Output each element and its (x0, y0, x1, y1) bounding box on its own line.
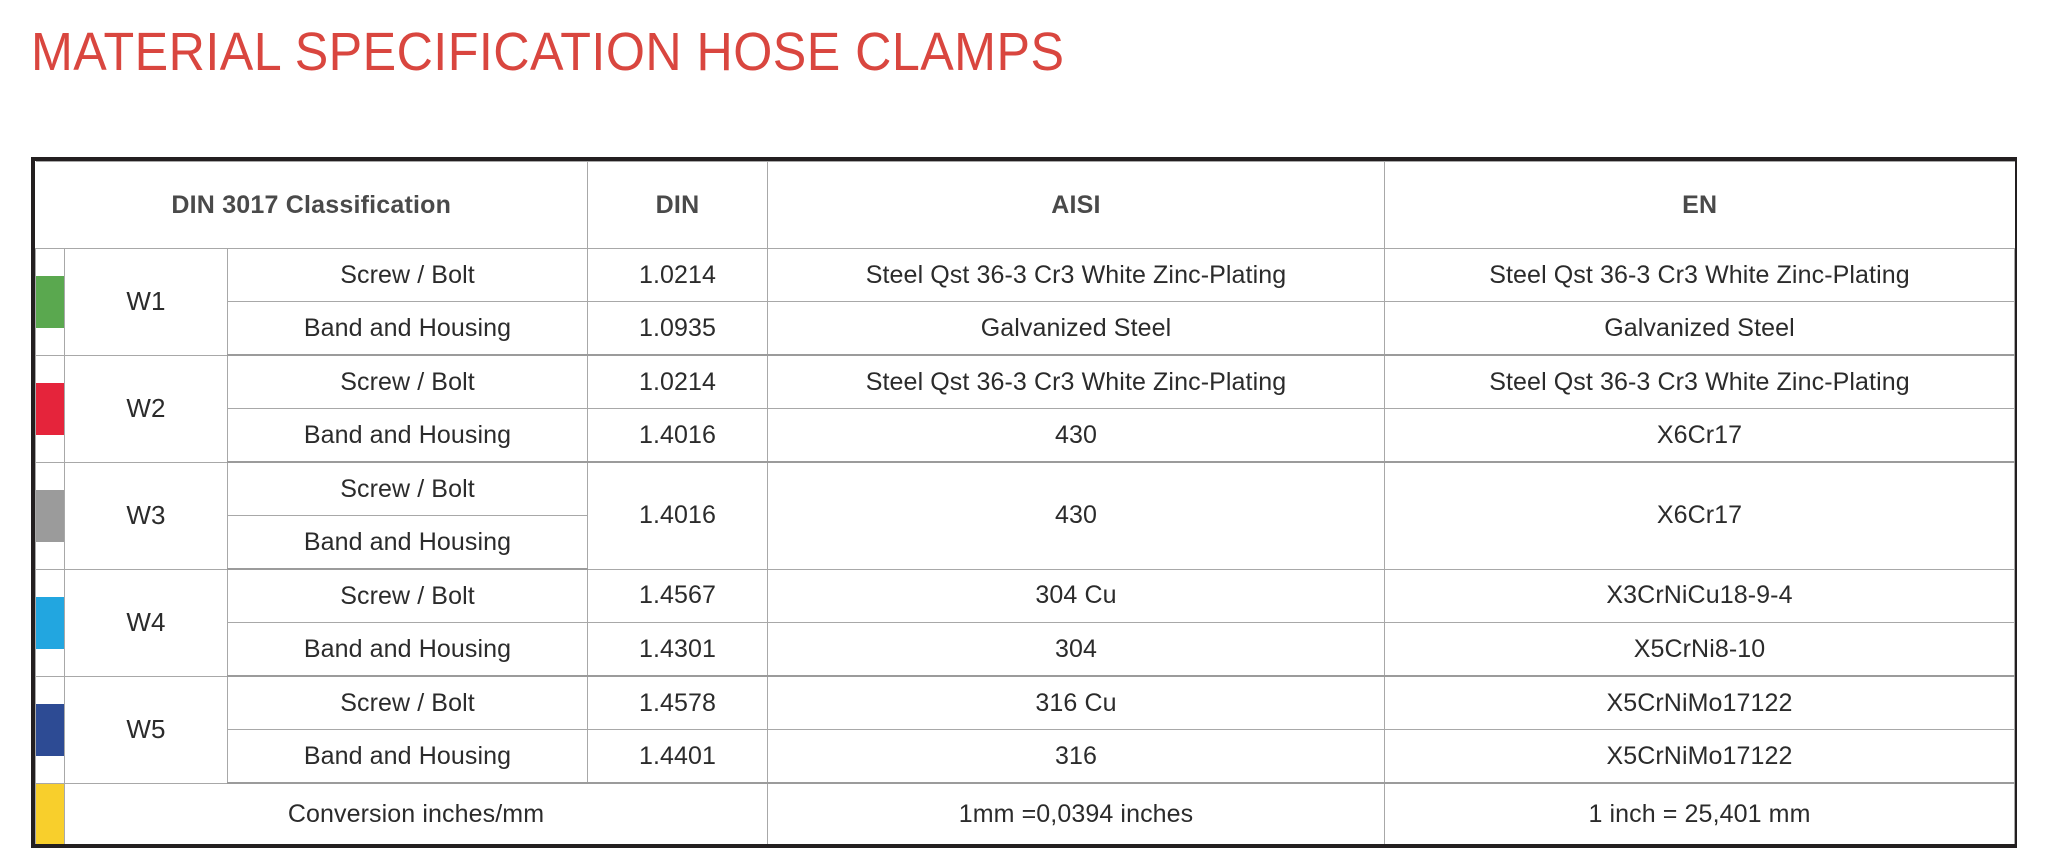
cell-en: Steel Qst 36-3 Cr3 White Zinc-Plating (1385, 249, 2015, 302)
color-swatch-w4 (36, 569, 65, 676)
cell-din: 1.0935 (588, 302, 768, 356)
swatch-fill (36, 597, 64, 649)
part-label: Screw / Bolt (228, 676, 588, 730)
page-title: MATERIAL SPECIFICATION HOSE CLAMPS (31, 22, 1064, 82)
swatch-fill (36, 704, 64, 756)
color-swatch-w2 (36, 355, 65, 462)
part-label: Screw / Bolt (228, 249, 588, 302)
cell-din: 1.4401 (588, 730, 768, 784)
color-swatch-w3 (36, 462, 65, 569)
swatch-fill (36, 490, 64, 542)
table-row: W1Screw / Bolt1.0214Steel Qst 36-3 Cr3 W… (36, 249, 2015, 302)
part-label: Band and Housing (228, 516, 588, 570)
cell-aisi: 430 (768, 462, 1385, 569)
table-row: Band and Housing1.0935Galvanized SteelGa… (36, 302, 2015, 356)
part-label: Band and Housing (228, 730, 588, 784)
part-label: Band and Housing (228, 409, 588, 463)
conversion-row: Conversion inches/mm1mm =0,0394 inches1 … (36, 783, 2015, 844)
column-header-din: DIN (588, 162, 768, 249)
table-row: Band and Housing1.4016430X6Cr17 (36, 409, 2015, 463)
cell-aisi: Galvanized Steel (768, 302, 1385, 356)
table-row: Band and Housing1.4401316X5CrNiMo17122 (36, 730, 2015, 784)
classification-code-w3: W3 (65, 462, 228, 569)
cell-din: 1.4567 (588, 569, 768, 623)
cell-en: X5CrNiMo17122 (1385, 730, 2015, 784)
swatch-fill (36, 383, 64, 435)
cell-en: X5CrNiMo17122 (1385, 676, 2015, 730)
table-header: DIN 3017 Classification DIN AISI EN (36, 162, 2015, 249)
cell-din: 1.4016 (588, 409, 768, 463)
conversion-mm-to-inches: 1mm =0,0394 inches (768, 783, 1385, 844)
classification-code-w2: W2 (65, 355, 228, 462)
cell-aisi: Steel Qst 36-3 Cr3 White Zinc-Plating (768, 249, 1385, 302)
table-row: W3Screw / Bolt1.4016430X6Cr17 (36, 462, 2015, 516)
column-header-en: EN (1385, 162, 2015, 249)
cell-en: X5CrNi8-10 (1385, 623, 2015, 677)
part-label: Band and Housing (228, 623, 588, 677)
part-label: Screw / Bolt (228, 355, 588, 409)
color-swatch-w1 (36, 249, 65, 356)
column-header-classification: DIN 3017 Classification (36, 162, 588, 249)
conversion-label: Conversion inches/mm (65, 783, 768, 844)
cell-aisi: 316 (768, 730, 1385, 784)
cell-din: 1.0214 (588, 249, 768, 302)
classification-code-w4: W4 (65, 569, 228, 676)
cell-din: 1.4016 (588, 462, 768, 569)
part-label: Band and Housing (228, 302, 588, 356)
color-swatch-conversion (36, 783, 65, 844)
cell-en: Steel Qst 36-3 Cr3 White Zinc-Plating (1385, 355, 2015, 409)
table-body: W1Screw / Bolt1.0214Steel Qst 36-3 Cr3 W… (36, 249, 2015, 845)
cell-en: X6Cr17 (1385, 409, 2015, 463)
cell-aisi: 316 Cu (768, 676, 1385, 730)
cell-aisi: Steel Qst 36-3 Cr3 White Zinc-Plating (768, 355, 1385, 409)
cell-din: 1.0214 (588, 355, 768, 409)
part-label: Screw / Bolt (228, 569, 588, 623)
table-header-row: DIN 3017 Classification DIN AISI EN (36, 162, 2015, 249)
cell-din: 1.4578 (588, 676, 768, 730)
cell-din: 1.4301 (588, 623, 768, 677)
material-specification-table-wrapper: DIN 3017 Classification DIN AISI EN W1Sc… (31, 157, 2017, 848)
classification-code-w1: W1 (65, 249, 228, 356)
classification-code-w5: W5 (65, 676, 228, 783)
cell-en: Galvanized Steel (1385, 302, 2015, 356)
conversion-inch-to-mm: 1 inch = 25,401 mm (1385, 783, 2015, 844)
cell-aisi: 304 Cu (768, 569, 1385, 623)
table-row: Band and Housing1.4301304X5CrNi8-10 (36, 623, 2015, 677)
part-label: Screw / Bolt (228, 462, 588, 516)
table-row: W5Screw / Bolt1.4578316 CuX5CrNiMo17122 (36, 676, 2015, 730)
swatch-fill (36, 784, 64, 845)
cell-en: X6Cr17 (1385, 462, 2015, 569)
table-row: W2Screw / Bolt1.0214Steel Qst 36-3 Cr3 W… (36, 355, 2015, 409)
document-page: MATERIAL SPECIFICATION HOSE CLAMPS DIN 3… (0, 0, 2047, 868)
cell-en: X3CrNiCu18-9-4 (1385, 569, 2015, 623)
swatch-fill (36, 276, 64, 328)
cell-aisi: 430 (768, 409, 1385, 463)
material-specification-table: DIN 3017 Classification DIN AISI EN W1Sc… (35, 161, 2015, 844)
cell-aisi: 304 (768, 623, 1385, 677)
color-swatch-w5 (36, 676, 65, 783)
column-header-aisi: AISI (768, 162, 1385, 249)
table-row: W4Screw / Bolt1.4567304 CuX3CrNiCu18-9-4 (36, 569, 2015, 623)
